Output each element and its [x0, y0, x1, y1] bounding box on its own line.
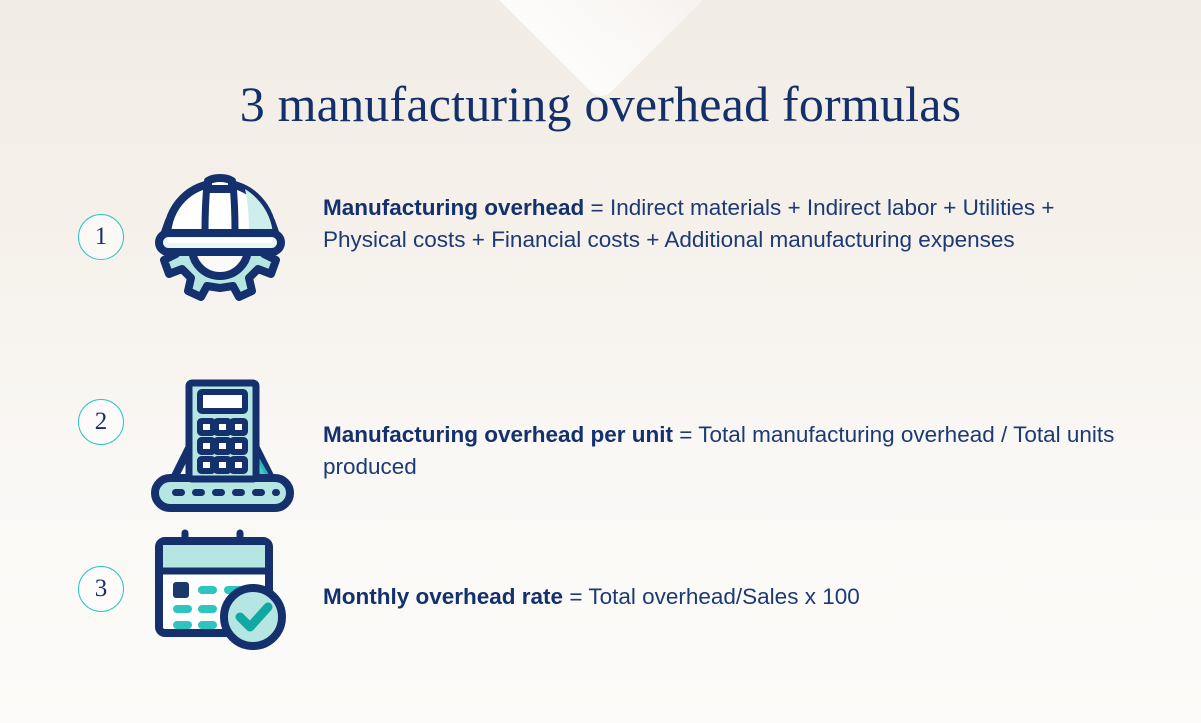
- formula-equals: =: [563, 584, 588, 609]
- formula-term: Manufacturing overhead per unit: [323, 422, 673, 447]
- step-number-badge: 3: [78, 566, 124, 612]
- step-number-label: 1: [95, 223, 108, 251]
- page-title-highlight: formulas: [782, 74, 961, 134]
- step-number-label: 3: [95, 575, 108, 603]
- infographic-canvas: 3 manufacturing overhead formulas 1: [0, 0, 1201, 723]
- list-item: 2: [0, 340, 1201, 500]
- step-number-badge: 2: [78, 399, 124, 445]
- formula-text: Monthly overhead rate = Total overhead/S…: [323, 581, 1123, 613]
- page-title-container: 3 manufacturing overhead formulas: [0, 74, 1201, 134]
- calculator-icon: [145, 378, 300, 523]
- page-title: 3 manufacturing overhead formulas: [240, 74, 962, 134]
- formula-term: Manufacturing overhead: [323, 195, 584, 220]
- formula-text: Manufacturing overhead = Indirect materi…: [323, 192, 1123, 256]
- formula-text: Manufacturing overhead per unit = Total …: [323, 419, 1123, 483]
- step-number-label: 2: [95, 408, 108, 436]
- hard-hat-gear-icon: [145, 159, 295, 314]
- formula-equals: =: [673, 422, 698, 447]
- list-item: 1: [0, 155, 1201, 315]
- calendar-check-icon: [145, 525, 295, 660]
- page-title-prefix: 3 manufacturing overhead: [240, 76, 782, 132]
- formula-equals: =: [584, 195, 610, 220]
- list-item: 3: [0, 510, 1201, 670]
- formula-term: Monthly overhead rate: [323, 584, 563, 609]
- formula-expression: Total overhead/Sales x 100: [588, 584, 859, 609]
- step-number-badge: 1: [78, 214, 124, 260]
